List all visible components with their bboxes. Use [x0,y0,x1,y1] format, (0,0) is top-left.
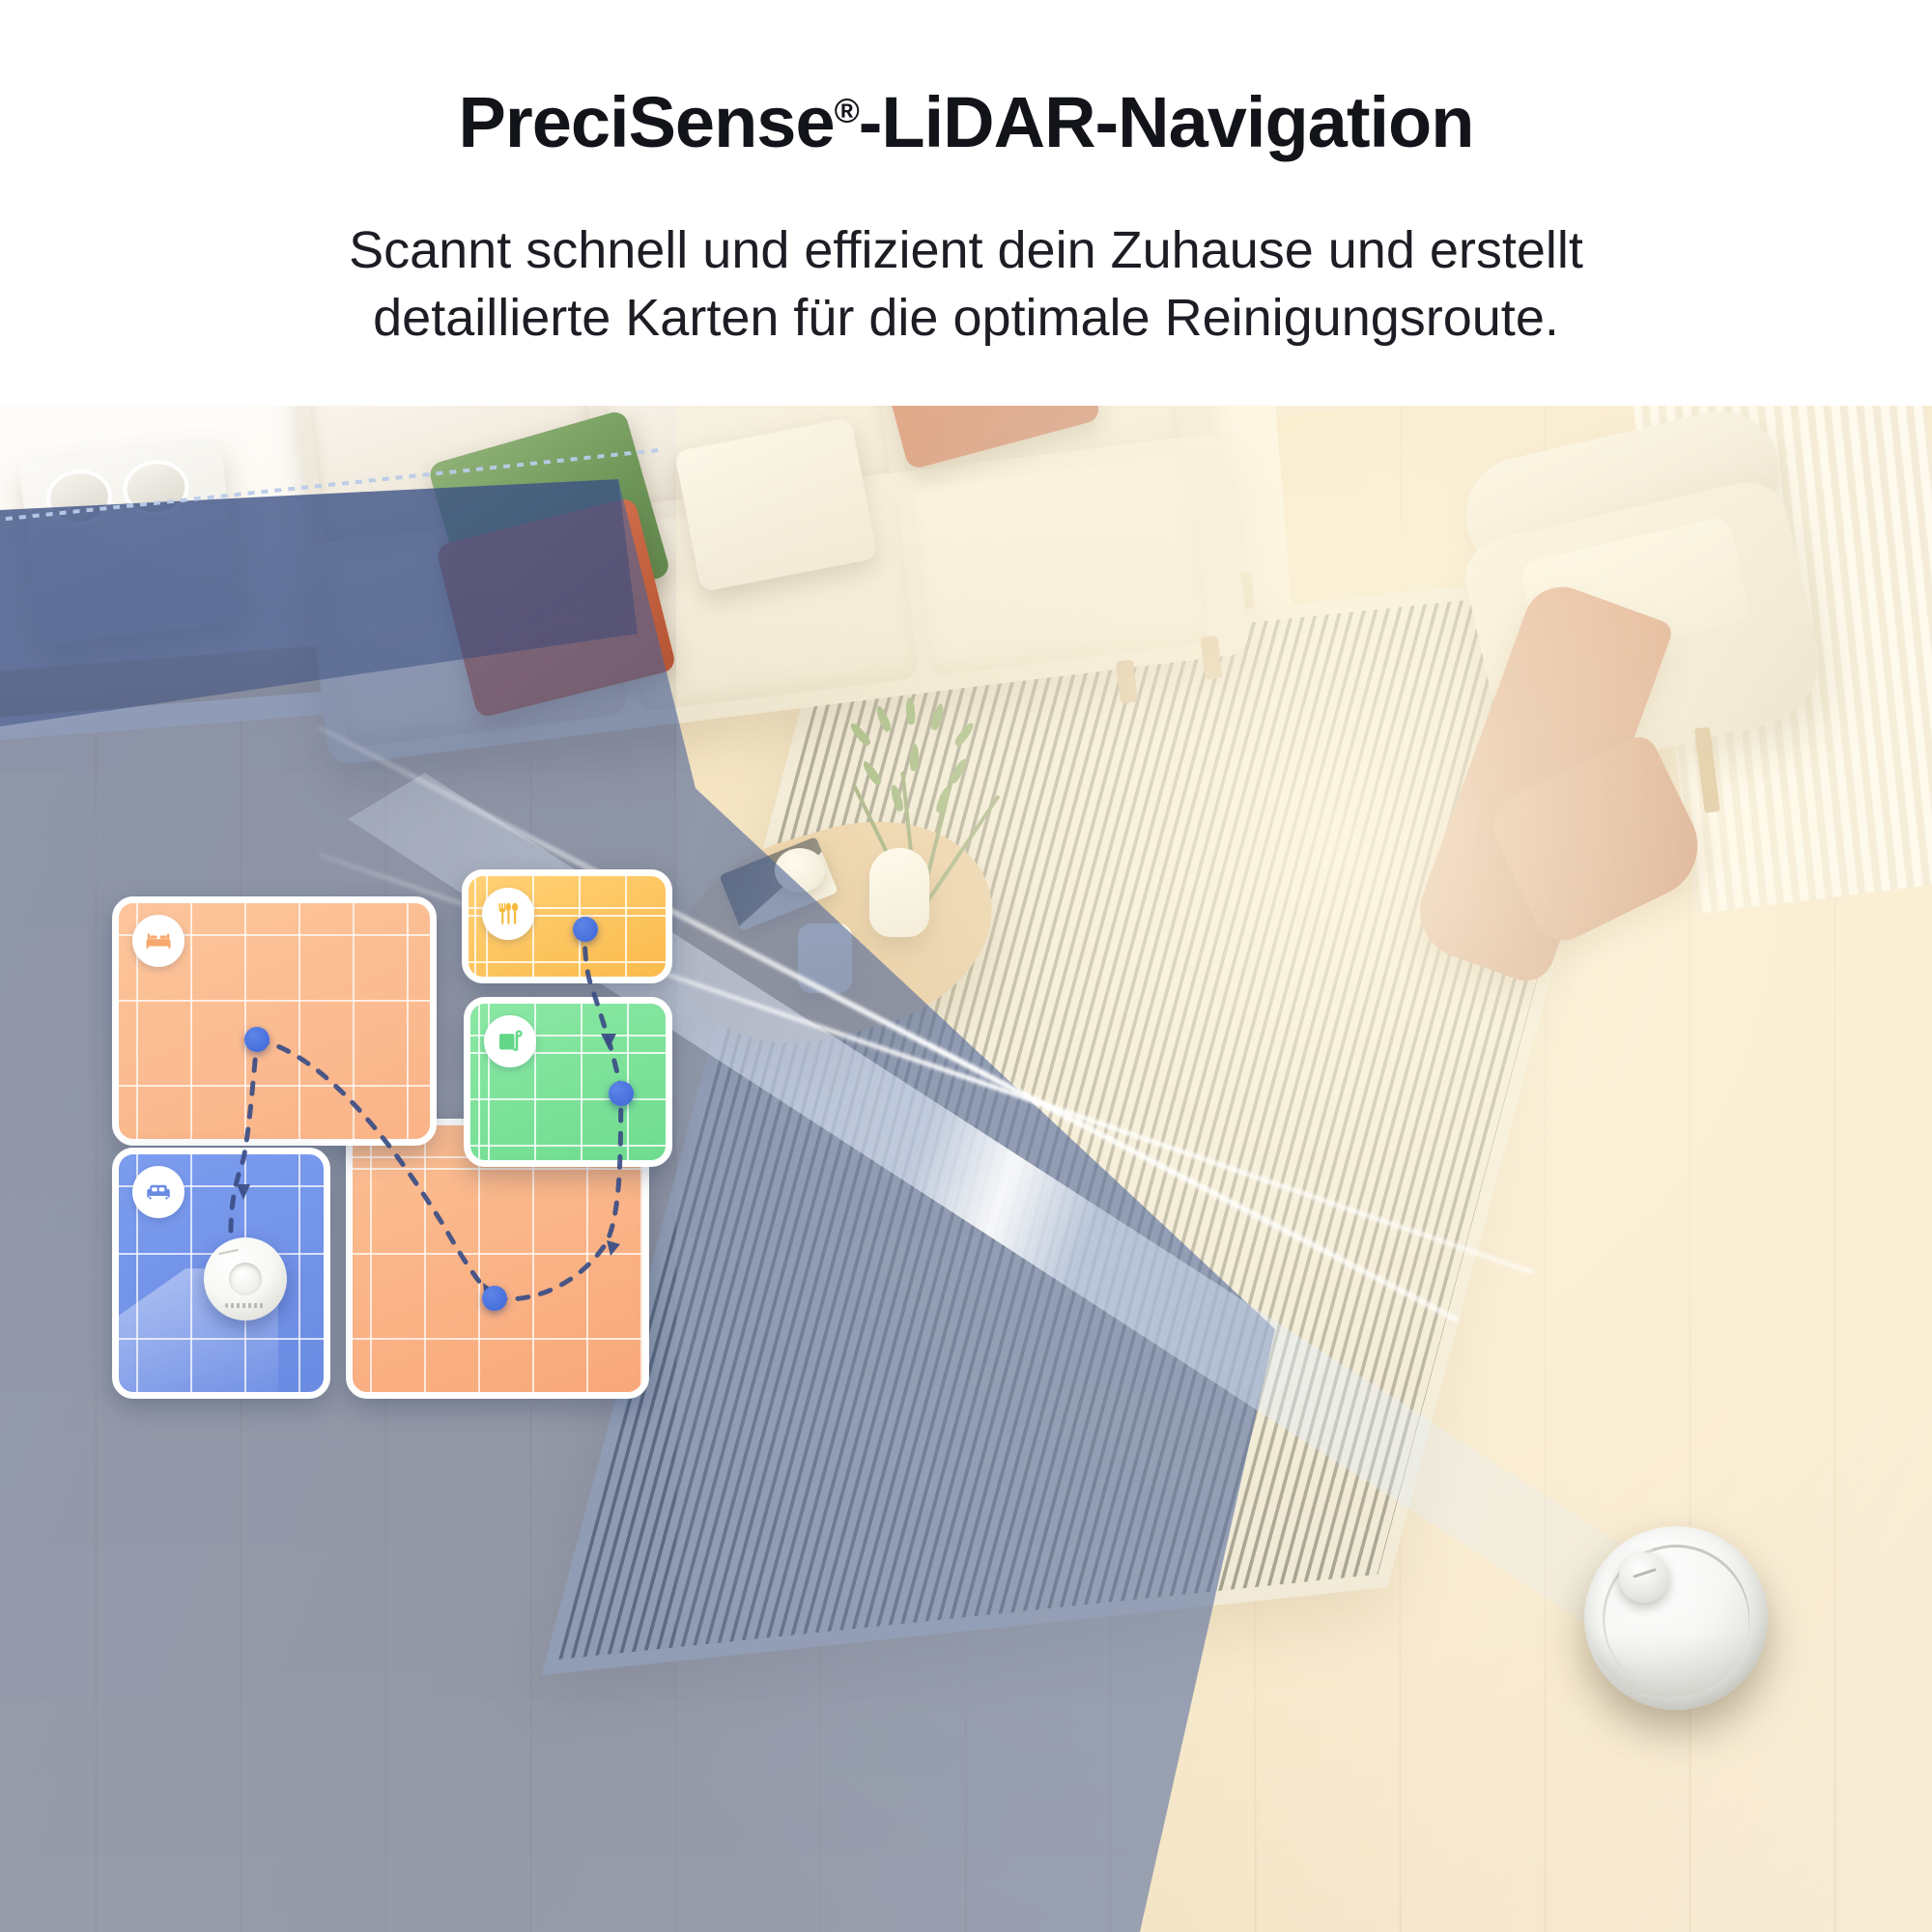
plant-leaf [910,744,920,771]
plant-leaf [861,759,883,786]
waypoint-bathroom[interactable] [609,1081,634,1106]
plant-leaf [929,702,945,730]
page-subtitle: Scannt schnell und effizient dein Zuhaus… [164,216,1768,352]
waypoint-hall[interactable] [482,1286,507,1311]
map-room-bathroom[interactable] [464,997,672,1167]
map-room-kitchen[interactable] [462,869,672,983]
plant-leaf [934,785,952,813]
coffee-table-cup [775,848,825,893]
map-robot-brand-mark [225,1303,265,1308]
towel-icon [484,1015,536,1067]
waypoint-bedroom[interactable] [244,1027,270,1052]
sideboard-handle-left [43,466,116,529]
page-title: PreciSense®-LiDAR-Navigation [0,83,1932,161]
robot-vacuum [1584,1526,1768,1710]
subtitle-line-1: Scannt schnell und effizient dein Zuhaus… [164,216,1768,284]
plant-leaf [874,704,893,732]
cutlery-icon [482,888,534,940]
living-room-scene [0,386,1932,1932]
subtitle-line-2: detaillierte Karten für die optimale Rei… [164,284,1768,352]
map-room-bedroom[interactable] [112,896,437,1146]
sideboard-handle-right [120,456,192,520]
plant-leaf [848,721,872,747]
waypoint-kitchen[interactable] [573,917,598,942]
sofa-icon [132,1166,185,1218]
map-robot-center-button [229,1263,262,1295]
smart-map-overlay[interactable] [104,869,761,1681]
registered-trademark-symbol: ® [835,91,859,129]
sideboard [18,439,242,645]
product-feature-page: PreciSense®-LiDAR-Navigation Scannt schn… [0,0,1932,1932]
header: PreciSense®-LiDAR-Navigation Scannt schn… [0,0,1932,406]
bed-icon [132,915,185,967]
plant-leaf [949,757,970,785]
page-title-brand: PreciSense [459,82,835,162]
lidar-turret-icon [1619,1552,1669,1603]
map-robot-vacuum[interactable] [204,1237,287,1321]
map-room-living-room[interactable] [112,1148,330,1399]
coffee-table-vase [869,848,929,937]
plant-leaf [953,721,977,748]
plant-leaf [905,697,916,725]
sofa-seat-cushion [907,454,1210,676]
smart-speaker [798,923,852,993]
page-title-rest: -LiDAR-Navigation [859,82,1474,162]
armchair-leg [1694,726,1720,812]
